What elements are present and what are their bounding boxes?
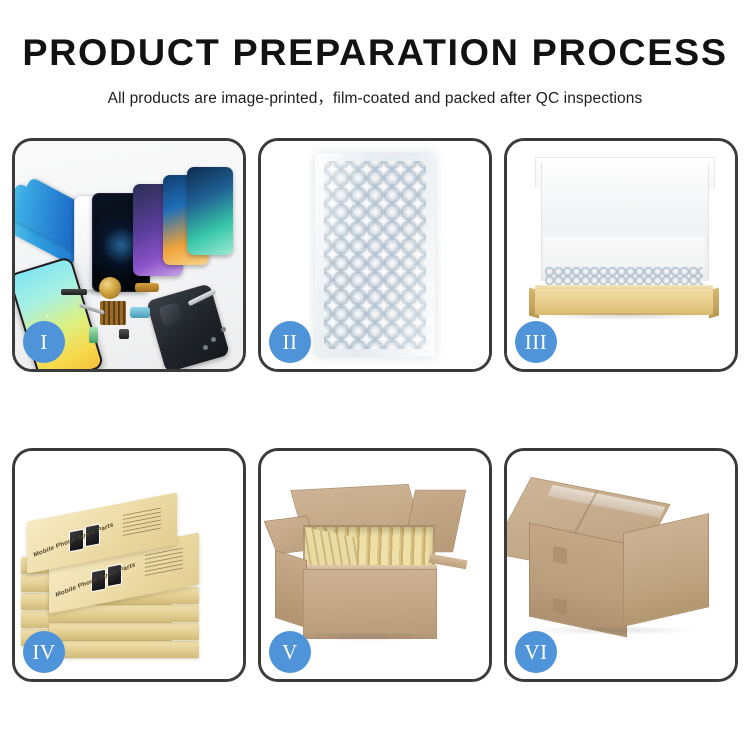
carton-mark-lower	[553, 598, 567, 615]
carton-mark-upper	[553, 546, 567, 565]
carton-shadow	[291, 633, 443, 641]
process-step-panel-5[interactable]: V	[258, 448, 492, 682]
carton-front-face	[303, 569, 437, 639]
box-label-text: Mobile Phone Spare Parts	[55, 561, 136, 599]
sealed-carton-right-face	[623, 513, 709, 627]
page-header: PRODUCT PREPARATION PROCESS All products…	[0, 0, 750, 108]
process-step-panel-4[interactable]: Mobile Phone Spare Parts Mobile Phone Sp…	[12, 448, 246, 682]
process-step-panel-3[interactable]: III	[504, 138, 738, 372]
step-badge-5: V	[269, 631, 311, 673]
screw-icon	[203, 345, 208, 350]
part-connector-icon	[130, 307, 150, 318]
sealed-carton-shadow	[533, 627, 693, 635]
step-badge-2: II	[269, 321, 311, 363]
bubble-wrap-icon	[315, 153, 435, 357]
box-spec-lines	[123, 508, 161, 537]
step-badge-4: IV	[23, 631, 65, 673]
teal-display-icon	[187, 167, 233, 255]
box-front-panel-icon	[535, 289, 713, 315]
kraft-box-side	[49, 641, 199, 658]
screw-icon	[221, 327, 226, 332]
process-step-panel-1[interactable]: I	[12, 138, 246, 372]
screw-icon	[211, 337, 216, 342]
part-battery-icon	[89, 327, 98, 343]
page-subtitle: All products are image-printed，film-coat…	[0, 86, 750, 108]
kraft-box-side	[49, 623, 199, 640]
part-chip-icon	[119, 329, 129, 339]
box-label-text: Mobile Phone Spare Parts	[33, 521, 114, 559]
page-title: PRODUCT PREPARATION PROCESS	[0, 34, 750, 73]
process-step-grid: I II III	[12, 138, 738, 682]
process-step-panel-6[interactable]: VI	[504, 448, 738, 682]
step-badge-6: VI	[515, 631, 557, 673]
box-shadow	[541, 313, 709, 320]
film-sheen	[315, 153, 435, 357]
part-strip-icon	[61, 289, 87, 295]
step-badge-3: III	[515, 321, 557, 363]
part-coil-icon	[99, 277, 121, 299]
process-step-panel-2[interactable]: II	[258, 138, 492, 372]
box-spec-lines	[145, 548, 183, 577]
step-badge-1: I	[23, 321, 65, 363]
part-flex-icon	[135, 283, 159, 292]
